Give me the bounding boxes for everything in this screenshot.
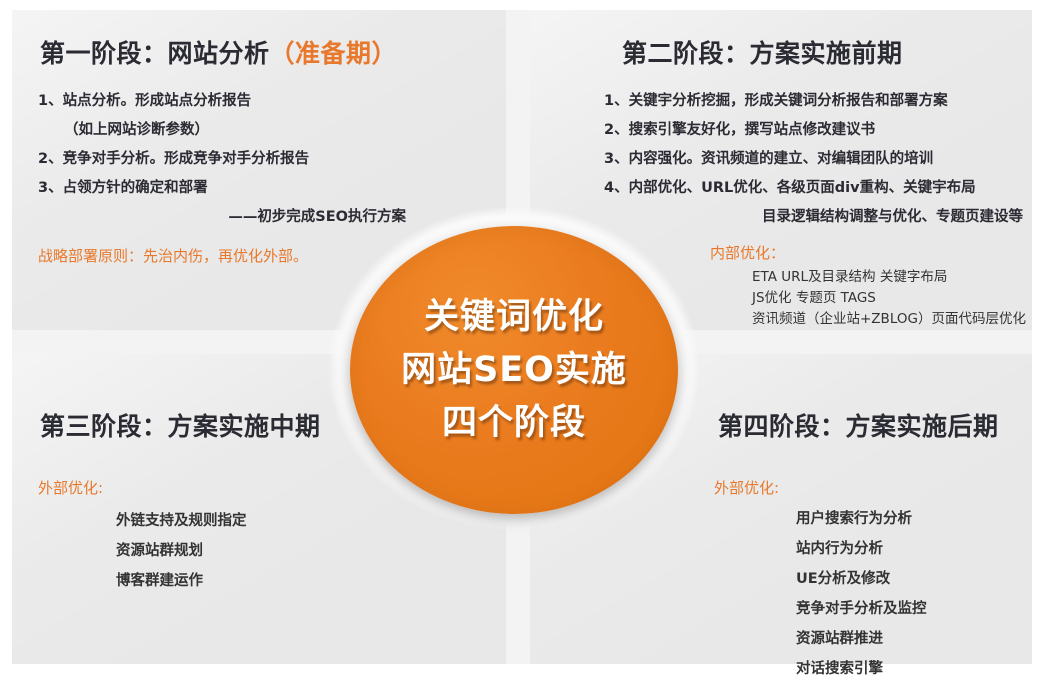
- phase-two-internal-section: 内部优化： ETA URL及目录结构 关键字布局 JS优化 专题页 TAGS 资…: [710, 242, 1026, 330]
- phase-one-principle: 战略部署原则：先治内伤，再优化外部。: [38, 245, 308, 266]
- phase-three-sub-1: 外链支持及规则指定: [116, 506, 247, 536]
- center-circle-group: 关键词优化 网站SEO实施 四个阶段: [328, 206, 700, 532]
- phase-four-section-heading: 外部优化:: [714, 477, 927, 498]
- phase-one-item-3: 2、竞争对手分析。形成竞争对手分析报告: [38, 145, 488, 174]
- phase-three-sub-3: 博客群建运作: [116, 566, 247, 596]
- phase-four-title-main: 第四阶段：方案实施后期: [718, 412, 999, 441]
- center-circle: 关键词优化 网站SEO实施 四个阶段: [350, 226, 678, 514]
- phase-four-sub-3: UE分析及修改: [796, 564, 927, 594]
- phase-four-title: 第四阶段：方案实施后期: [718, 407, 999, 443]
- phase-four-sub-5: 资源站群推进: [796, 624, 927, 654]
- phase-one-item-4: 3、占领方针的确定和部署: [38, 174, 488, 203]
- phase-two-item-1: 1、关键宇分析挖掘，形成关键词分析报告和部署方案: [604, 87, 1034, 116]
- phase-two-item-2: 2、搜索引擎友好化，撰写站点修改建议书: [604, 116, 1034, 145]
- phase-two-title: 第二阶段：方案实施前期: [622, 34, 903, 70]
- phase-three-sub-2: 资源站群规划: [116, 536, 247, 566]
- phase-one-title-paren: （准备期）: [270, 39, 398, 68]
- center-line-1: 关键词优化: [424, 291, 604, 344]
- phase-two-item-3: 3、内容强化。资讯频道的建立、对编辑团队的培训: [604, 145, 1034, 174]
- phase-four-sub-2: 站内行为分析: [796, 534, 927, 564]
- phase-two-sub-1: ETA URL及目录结构 关键字布局: [752, 267, 1026, 288]
- phase-one-title: 第一阶段：网站分析（准备期）: [40, 34, 397, 70]
- diagram-canvas: 第一阶段：网站分析（准备期） 1、站点分析。形成站点分析报告 （如上网站诊断参数…: [0, 0, 1049, 676]
- phase-four-external-section: 外部优化: 用户搜索行为分析 站内行为分析 UE分析及修改 竞争对手分析及监控 …: [714, 477, 927, 676]
- center-line-2: 网站SEO实施: [401, 344, 627, 397]
- phase-three-external-section: 外部优化: 外链支持及规则指定 资源站群规划 博客群建运作: [38, 477, 247, 596]
- phase-two-sub-2: JS优化 专题页 TAGS: [752, 288, 1026, 309]
- phase-four-sub-6: 对话搜索引擎: [796, 654, 927, 676]
- phase-one-title-main: 第一阶段：网站分析: [40, 39, 270, 68]
- phase-four-sub-4: 竞争对手分析及监控: [796, 594, 927, 624]
- phase-two-title-main: 第二阶段：方案实施前期: [622, 39, 903, 68]
- phase-three-title-main: 第三阶段：方案实施中期: [40, 412, 321, 441]
- phase-three-title: 第三阶段：方案实施中期: [40, 407, 321, 443]
- phase-one-item-2: （如上网站诊断参数）: [38, 116, 488, 145]
- phase-one-item-1: 1、站点分析。形成站点分析报告: [38, 87, 488, 116]
- phase-two-section-heading: 内部优化：: [710, 242, 1026, 263]
- phase-three-section-heading: 外部优化:: [38, 477, 247, 498]
- phase-two-sub-3: 资讯频道（企业站+ZBLOG）页面代码层优化: [752, 309, 1026, 330]
- center-line-3: 四个阶段: [442, 397, 586, 450]
- phase-four-sub-1: 用户搜索行为分析: [796, 504, 927, 534]
- phase-two-item-4: 4、内部优化、URL优化、各级页面div重构、关键宇布局: [604, 174, 1034, 203]
